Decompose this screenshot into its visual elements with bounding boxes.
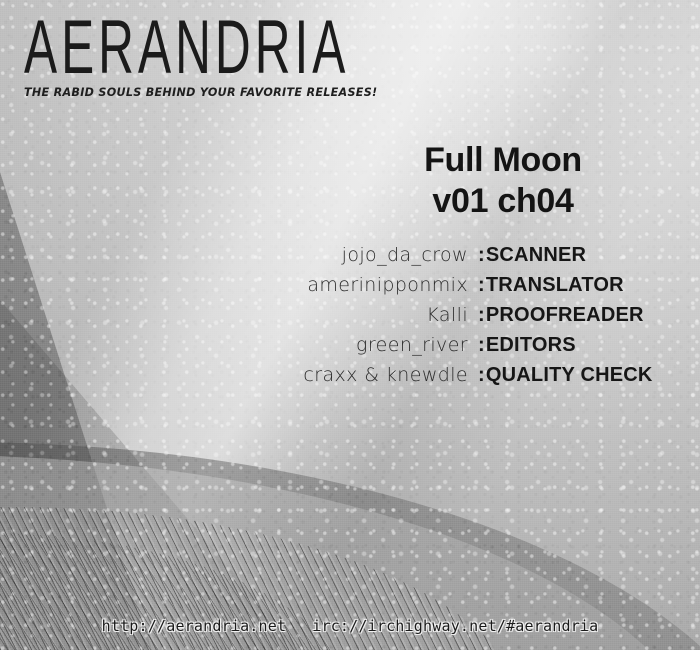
- website-url[interactable]: http://aerandria.net: [102, 617, 287, 635]
- credit-role: :SCANNER: [478, 244, 676, 267]
- credits-page: AERANDRIA THE RABID SOULS BEHIND YOUR FA…: [0, 0, 700, 650]
- credit-role-label: PROOFREADER: [486, 304, 644, 326]
- credit-role: :TRANSLATOR: [478, 274, 676, 297]
- series-title: Full Moon: [330, 140, 676, 181]
- credit-separator: :: [478, 364, 485, 386]
- credit-role-label: EDITORS: [486, 334, 576, 356]
- credit-row: craxx & knewdle :QUALITY CHECK: [276, 364, 676, 390]
- logo-wordmark: AERANDRIA: [24, 12, 264, 86]
- credit-name: jojo_da_crow: [276, 244, 478, 266]
- credit-row: amerinipponmix :TRANSLATOR: [276, 274, 676, 300]
- credit-role: :QUALITY CHECK: [478, 364, 676, 387]
- credit-separator: :: [478, 334, 485, 356]
- title-block: Full Moon v01 ch04: [330, 140, 676, 223]
- page-content: AERANDRIA THE RABID SOULS BEHIND YOUR FA…: [0, 0, 700, 650]
- credit-separator: :: [478, 304, 485, 326]
- credit-role-label: TRANSLATOR: [486, 274, 624, 296]
- credit-row: Kalli :PROOFREADER: [276, 304, 676, 330]
- logo-tagline: THE RABID SOULS BEHIND YOUR FAVORITE REL…: [24, 85, 315, 99]
- credit-separator: :: [478, 244, 485, 266]
- footer: http://aerandria.net irc://irchighway.ne…: [0, 617, 700, 636]
- chapter-label: v01 ch04: [330, 181, 676, 222]
- credit-role: :EDITORS: [478, 334, 676, 357]
- credit-name: craxx & knewdle: [276, 364, 478, 386]
- credit-role: :PROOFREADER: [478, 304, 676, 327]
- group-logo: AERANDRIA THE RABID SOULS BEHIND YOUR FA…: [24, 12, 324, 99]
- footer-links: http://aerandria.net irc://irchighway.ne…: [102, 617, 599, 635]
- credit-role-label: SCANNER: [486, 244, 586, 266]
- credit-row: green_river :EDITORS: [276, 334, 676, 360]
- credit-name: Kalli: [276, 304, 478, 326]
- credit-row: jojo_da_crow :SCANNER: [276, 244, 676, 270]
- credits-list: jojo_da_crow :SCANNER amerinipponmix :TR…: [276, 244, 676, 394]
- credit-separator: :: [478, 274, 485, 296]
- credit-name: green_river: [276, 334, 478, 356]
- credit-name: amerinipponmix: [276, 274, 478, 296]
- credit-role-label: QUALITY CHECK: [486, 364, 653, 386]
- irc-url[interactable]: irc://irchighway.net/#aerandria: [312, 617, 598, 635]
